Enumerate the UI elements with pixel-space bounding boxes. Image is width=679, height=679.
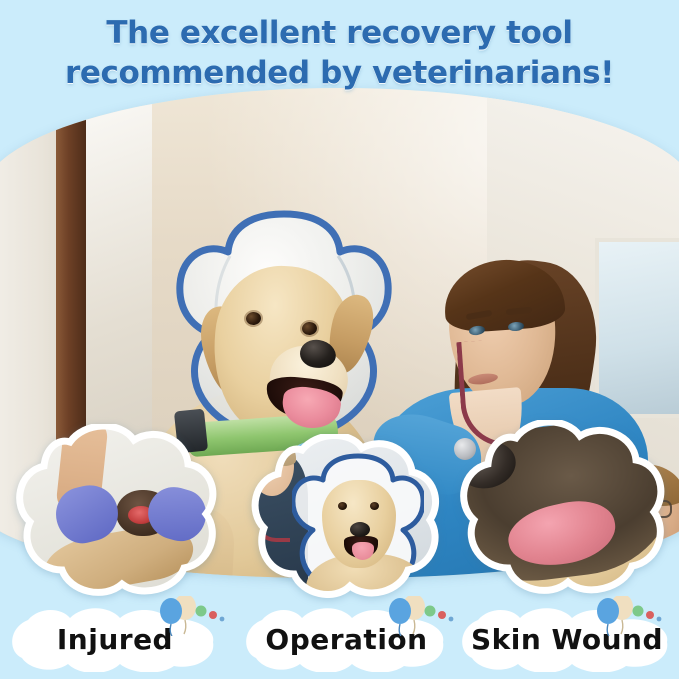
balloons-decoration-injured <box>155 596 229 636</box>
feature-thumbnail-skin-wound[interactable] <box>452 420 670 596</box>
feature-thumbnail-operation[interactable] <box>244 434 444 598</box>
balloons-decoration-skin-wound <box>592 596 666 636</box>
product-banner: The excellent recovery tool recommended … <box>0 0 679 679</box>
feature-thumbnail-injured[interactable] <box>8 424 222 596</box>
headline-line-2: recommended by veterinarians! <box>18 54 661 94</box>
balloons-decoration-operation <box>384 596 458 636</box>
headline-line-1: The excellent recovery tool <box>18 14 661 54</box>
clinic-window <box>595 238 679 418</box>
headline: The excellent recovery tool recommended … <box>0 14 679 93</box>
